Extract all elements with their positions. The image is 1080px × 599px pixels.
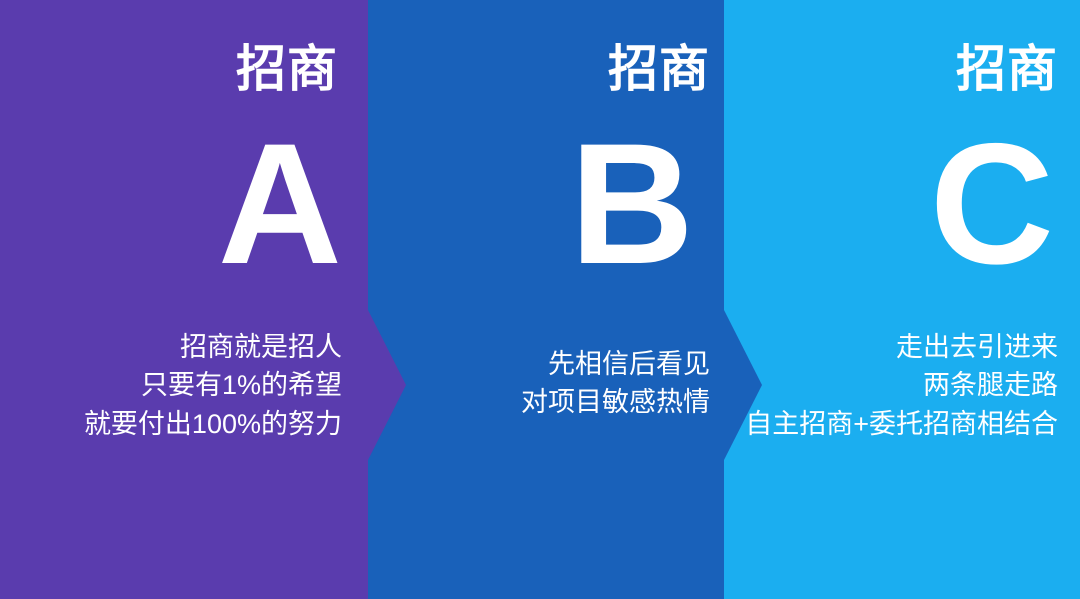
panel-c-caption-line-3: 自主招商+委托招商相结合 xyxy=(745,405,1058,443)
panel-c-header: 招商 xyxy=(956,44,1058,94)
panel-b[interactable]: 招商 B 先相信后看见 对项目敏感热情 xyxy=(368,0,724,599)
panel-a[interactable]: 招商 A 招商就是招人 只要有1%的希望 就要付出100%的努力 xyxy=(0,0,368,599)
panel-c[interactable]: 招商 C 走出去引进来 两条腿走路 自主招商+委托招商相结合 xyxy=(724,0,1080,599)
panel-b-caption-line-1: 先相信后看见 xyxy=(521,345,710,383)
slide-canvas: 招商 A 招商就是招人 只要有1%的希望 就要付出100%的努力 招商 B 先相… xyxy=(0,0,1080,599)
panel-c-caption-line-2: 两条腿走路 xyxy=(745,366,1058,404)
panel-a-caption-line-2: 只要有1%的希望 xyxy=(84,366,342,404)
panel-b-caption-line-2: 对项目敏感热情 xyxy=(521,383,710,421)
panel-b-caption: 先相信后看见 对项目敏感热情 xyxy=(521,345,710,422)
panel-b-header: 招商 xyxy=(608,44,710,94)
panel-c-letter: C xyxy=(930,118,1052,290)
panel-a-header: 招商 xyxy=(236,44,338,94)
panel-c-caption: 走出去引进来 两条腿走路 自主招商+委托招商相结合 xyxy=(745,328,1058,443)
panel-a-caption-line-3: 就要付出100%的努力 xyxy=(84,405,342,443)
panel-c-caption-line-1: 走出去引进来 xyxy=(745,328,1058,366)
panel-a-caption-line-1: 招商就是招人 xyxy=(84,328,342,366)
panel-a-caption: 招商就是招人 只要有1%的希望 就要付出100%的努力 xyxy=(84,328,342,443)
panel-b-letter: B xyxy=(570,118,692,290)
panel-a-letter: A xyxy=(218,118,340,290)
